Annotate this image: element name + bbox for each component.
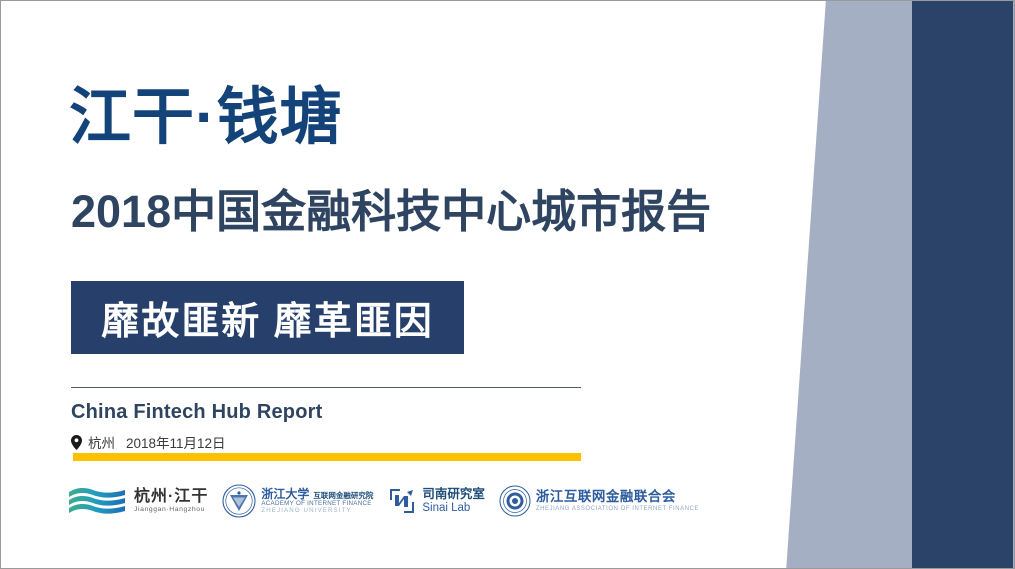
- zhejiang-university-seal-icon: [222, 484, 256, 518]
- logo-zju-en2: ZHEJIANG UNIVERSITY: [261, 508, 373, 515]
- english-title: China Fintech Hub Report: [71, 401, 322, 424]
- page-title: 江干·钱塘: [69, 85, 343, 150]
- logo-hangzhou-jianggan-text: 杭州·江干 Jianggan·Hangzhou: [134, 489, 208, 513]
- logo-zju-cn-sub: 互联网金融研究院: [313, 492, 373, 500]
- logo-zhejiang-association-text: 浙江互联网金融联合会 ZHEJIANG ASSOCIATION OF INTER…: [536, 490, 699, 512]
- accent-bar: [73, 453, 581, 461]
- slide-canvas: 江干·钱塘 2018中国金融科技中心城市报告 靡故匪新 靡革匪因 China F…: [0, 0, 1015, 569]
- location-label: 杭州: [88, 432, 115, 452]
- logo-zhejiang-association-cn: 浙江互联网金融联合会: [536, 490, 699, 504]
- divider: [71, 387, 581, 388]
- logo-hangzhou-jianggan-en: Jianggan·Hangzhou: [134, 506, 208, 513]
- page-subtitle: 2018中国金融科技中心城市报告: [71, 187, 711, 237]
- logo-zhejiang-association: 浙江互联网金融联合会 ZHEJIANG ASSOCIATION OF INTER…: [499, 479, 699, 523]
- logo-sinai-lab-en: Sinai Lab: [422, 502, 485, 514]
- logo-row: 杭州·江干 Jianggan·Hangzhou 浙江大学 互联网金融研究院: [67, 479, 713, 523]
- location-pin-icon: [71, 435, 82, 450]
- logo-hangzhou-jianggan: 杭州·江干 Jianggan·Hangzhou: [67, 479, 208, 523]
- slogan-banner: 靡故匪新 靡革匪因: [71, 281, 464, 354]
- logo-hangzhou-jianggan-cn: 杭州·江干: [134, 489, 208, 506]
- slogan-text: 靡故匪新 靡革匪因: [101, 290, 434, 345]
- logo-zju-cn-line: 浙江大学 互联网金融研究院: [261, 488, 373, 501]
- decorative-navy-band: [912, 0, 1013, 569]
- logo-zju-cn-main: 浙江大学: [261, 488, 309, 501]
- date-label: 2018年11月12日: [126, 432, 226, 452]
- wave-mark-icon: [67, 486, 129, 516]
- logo-sinai-lab-cn: 司南研究室: [422, 488, 485, 501]
- logo-zhejiang-university: 浙江大学 互联网金融研究院 ACADEMY OF INTERNET FINANC…: [222, 479, 373, 523]
- logo-sinai-lab-text: 司南研究室 Sinai Lab: [422, 488, 485, 514]
- logo-zhejiang-association-en: ZHEJIANG ASSOCIATION OF INTERNET FINANCE: [536, 506, 699, 512]
- location-date-row: 杭州 2018年11月12日: [71, 432, 226, 452]
- sinai-lab-bracket-icon: [387, 486, 417, 516]
- logo-sinai-lab: 司南研究室 Sinai Lab: [387, 479, 485, 523]
- zhejiang-association-seal-icon: [499, 485, 531, 517]
- logo-zhejiang-university-text: 浙江大学 互联网金融研究院 ACADEMY OF INTERNET FINANC…: [261, 488, 373, 515]
